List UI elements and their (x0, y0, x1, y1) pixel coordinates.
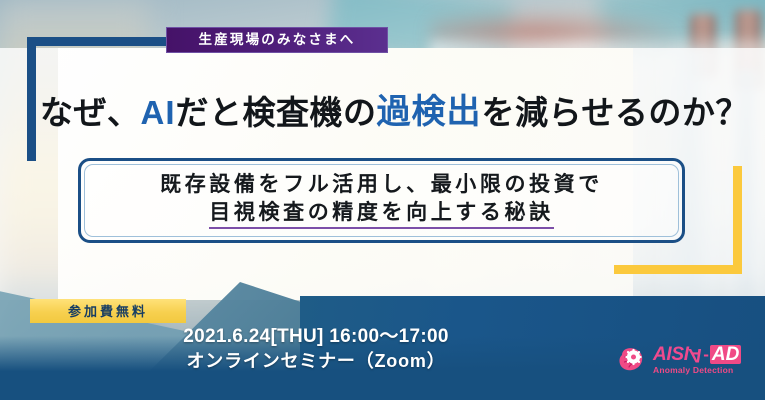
seminar-banner: 生産現場のみなさまへ なぜ、 AI だと検査機の 過検出 を減らせるのか？ 既存… (0, 0, 765, 400)
logo-letter-s: S (671, 345, 683, 364)
logo-letter-a: A (653, 345, 666, 364)
logo-dash: - (703, 346, 709, 363)
eyebrow-label: 生産現場のみなさまへ (199, 33, 356, 47)
free-admission-badge: 参加費無料 (30, 299, 186, 323)
aisia-ad-logo: A I S I A - AD Anomaly Detection (617, 341, 757, 379)
headline-accent-overdetection: 過検出 (377, 95, 482, 129)
eyebrow-badge: 生産現場のみなさまへ (166, 27, 388, 53)
subtitle-box: 既存設備をフル活用し、最小限の投資で 目視検査の精度を向上する秘訣 (78, 158, 685, 243)
page-title: なぜ、 AI だと検査機の 過検出 を減らせるのか？ (40, 88, 740, 136)
subtitle-line-2: 目視検査の精度を向上する秘訣 (209, 200, 553, 229)
headline-part-2: だと検査機の (176, 96, 377, 129)
logo-name-row: A I S I A - AD (653, 345, 741, 364)
headline-part-1: なぜ、 (40, 96, 141, 129)
headline-part-3: を減らせるのか？ (482, 96, 749, 129)
free-admission-label: 参加費無料 (68, 305, 148, 318)
schedule-format: オンラインセミナー（Zoom） (187, 351, 446, 372)
schedule-datetime: 2021.6.24[THU] 16:00〜17:00 (183, 326, 449, 348)
logo-letter-a-flipped: A (689, 345, 702, 364)
schedule-block: 2021.6.24[THU] 16:00〜17:00 オンラインセミナー（Zoo… (136, 326, 496, 372)
logo-tagline: Anomaly Detection (653, 366, 741, 375)
logo-wordmark: A I S I A - AD Anomaly Detection (653, 345, 741, 375)
logo-ad: AD (710, 345, 741, 364)
subtitle-line-1: 既存設備をフル活用し、最小限の投資で (160, 172, 603, 198)
brain-gear-icon (617, 346, 648, 375)
headline-accent-ai: AI (141, 96, 176, 129)
subtitle-box-inner: 既存設備をフル活用し、最小限の投資で 目視検査の精度を向上する秘訣 (84, 164, 679, 237)
